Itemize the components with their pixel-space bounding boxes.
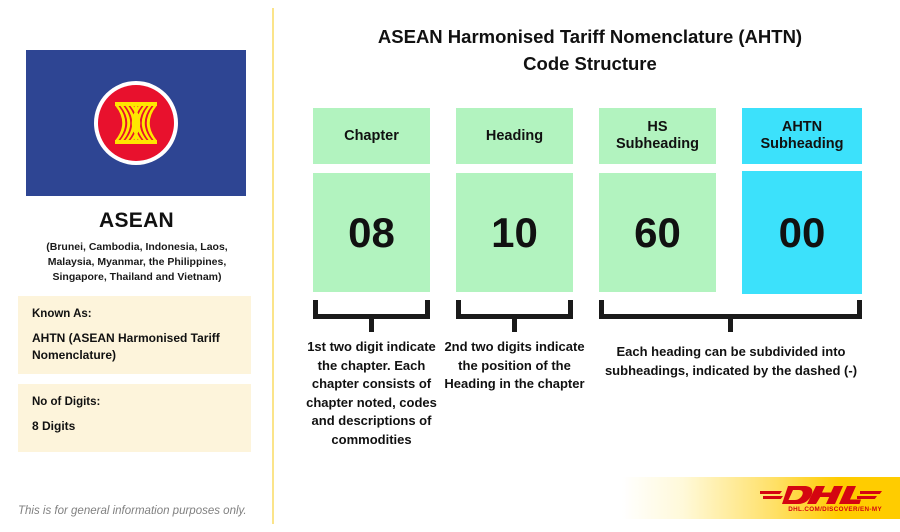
digit-value-chapter: 08: [348, 209, 395, 257]
header-label-heading: Heading: [486, 128, 543, 145]
digit-value-ahtn-subheading: 00: [779, 209, 826, 257]
known-as-label: Known As:: [32, 308, 237, 320]
digits-label: No of Digits:: [32, 396, 237, 408]
header-box-chapter: Chapter: [313, 108, 430, 164]
header-label-chapter: Chapter: [344, 128, 399, 145]
organization-name: ASEAN: [0, 209, 273, 233]
info-box-digits: No of Digits: 8 Digits: [18, 384, 251, 452]
bracket-stem: [369, 318, 374, 332]
bracket-stem: [728, 318, 733, 332]
sidebar-panel: ASEAN (Brunei, Cambodia, Indonesia, Laos…: [0, 0, 273, 532]
page-title-line1: ASEAN Harmonised Tariff Nomenclature (AH…: [378, 26, 802, 47]
digits-value: 8 Digits: [32, 418, 237, 435]
caption-chapter: 1st two digit indicate the chapter. Each…: [300, 338, 443, 449]
ahtn-line2: Subheading: [761, 136, 844, 152]
digit-box-ahtn-subheading: 00: [742, 171, 862, 294]
bracket-heading: [456, 300, 573, 322]
header-box-ahtn-subheading: AHTN Subheading: [742, 108, 862, 164]
bracket-right-tick: [568, 300, 573, 319]
infographic-page: ASEAN (Brunei, Cambodia, Indonesia, Laos…: [0, 0, 900, 532]
header-box-heading: Heading: [456, 108, 573, 164]
bracket-right-tick: [425, 300, 430, 319]
hs-line1: HS: [647, 119, 667, 135]
known-as-value: AHTN (ASEAN Harmonised Tariff Nomenclatu…: [32, 330, 237, 364]
caption-heading: 2nd two digits indicate the position of …: [443, 338, 586, 394]
bracket-stem: [512, 318, 517, 332]
dhl-logo: [760, 484, 882, 506]
bracket-chapter: [313, 300, 430, 322]
bracket-right-tick: [857, 300, 862, 319]
digit-box-heading: 10: [456, 173, 573, 292]
member-countries: (Brunei, Cambodia, Indonesia, Laos, Mala…: [22, 240, 252, 285]
digit-box-hs-subheading: 60: [599, 173, 716, 292]
ahtn-line1: AHTN: [782, 119, 822, 135]
header-label-ahtn-subheading: AHTN Subheading: [761, 119, 844, 153]
digit-value-heading: 10: [491, 209, 538, 257]
asean-flag-image: [26, 50, 246, 196]
dhl-url-text: DHL.COM/DISCOVER/EN-MY: [760, 506, 882, 513]
digit-value-hs-subheading: 60: [634, 209, 681, 257]
header-label-hs-subheading: HS Subheading: [616, 119, 699, 153]
digit-box-chapter: 08: [313, 173, 430, 292]
vertical-divider: [272, 8, 274, 524]
bracket-subheadings: [599, 300, 862, 322]
header-box-hs-subheading: HS Subheading: [599, 108, 716, 164]
page-title-line2: Code Structure: [523, 53, 657, 74]
info-box-known-as: Known As: AHTN (ASEAN Harmonised Tariff …: [18, 296, 251, 374]
disclaimer-text: This is for general information purposes…: [18, 505, 268, 517]
page-title: ASEAN Harmonised Tariff Nomenclature (AH…: [290, 23, 890, 77]
hs-line2: Subheading: [616, 136, 699, 152]
caption-subheadings: Each heading can be subdivided into subh…: [596, 343, 866, 380]
